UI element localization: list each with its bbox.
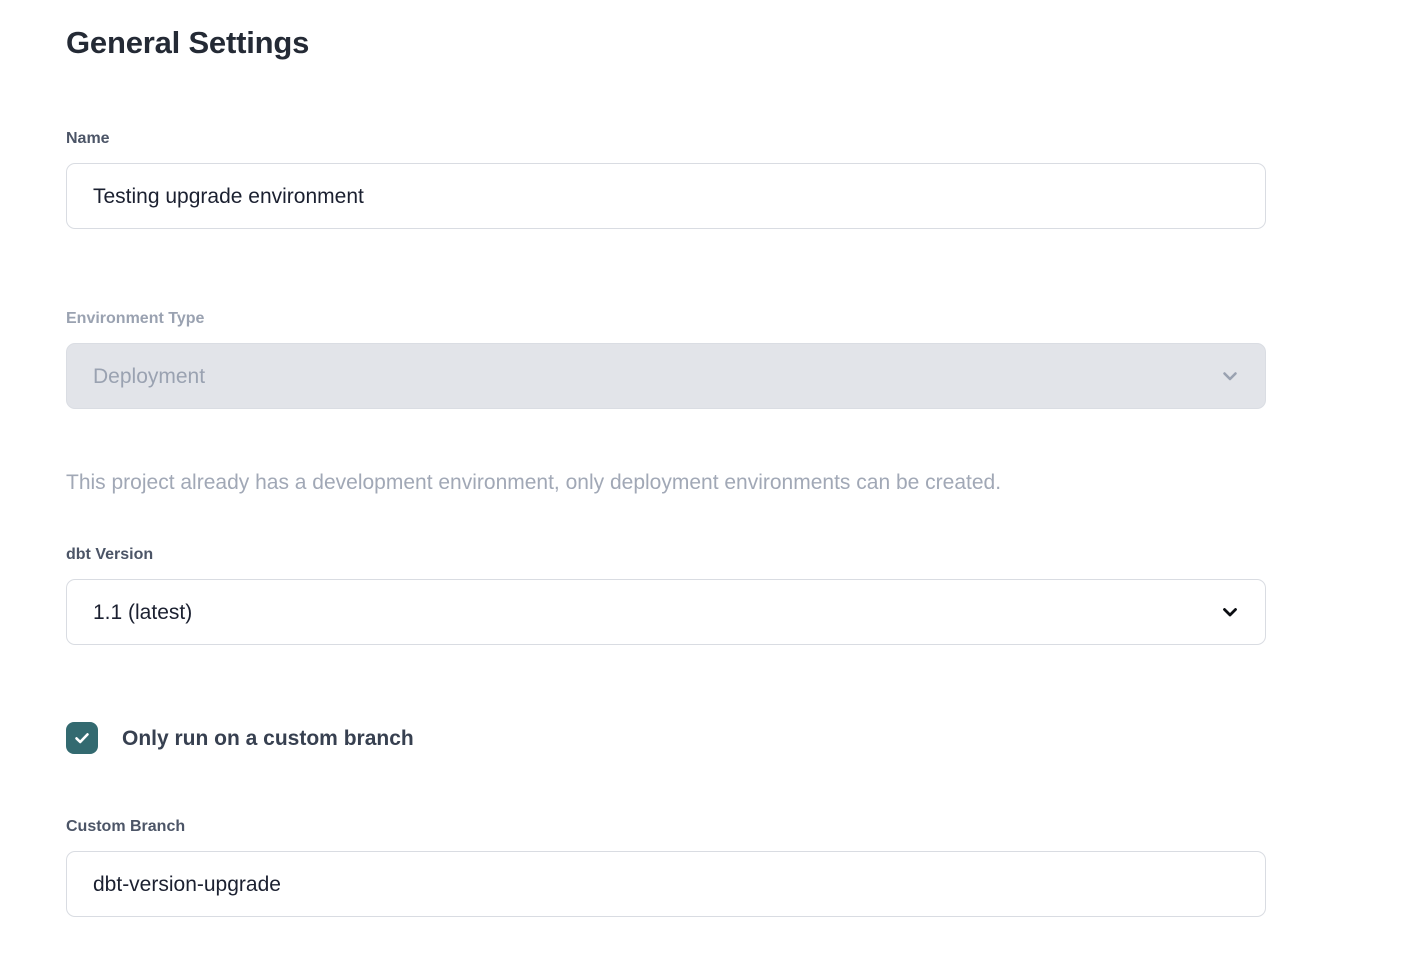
general-settings-page: General Settings Name Testing upgrade en… [0,0,1406,958]
environment-type-label: Environment Type [66,311,1266,327]
dbt-version-value: 1.1 (latest) [93,602,192,623]
field-group-dbt-version: dbt Version 1.1 (latest) [66,547,1266,645]
field-group-name: Name Testing upgrade environment [66,131,1266,229]
field-group-environment-type: Environment Type Deployment [66,311,1266,409]
chevron-down-icon [1219,601,1241,623]
dbt-version-label: dbt Version [66,547,1266,563]
only-run-on-custom-branch-checkbox[interactable] [66,722,98,754]
name-input[interactable]: Testing upgrade environment [66,163,1266,229]
only-run-on-custom-branch-label: Only run on a custom branch [122,728,414,749]
dbt-version-select[interactable]: 1.1 (latest) [66,579,1266,645]
check-icon [72,728,92,748]
name-label: Name [66,131,1266,147]
environment-type-helper-text: This project already has a development e… [66,470,1001,496]
custom-branch-input[interactable]: dbt-version-upgrade [66,851,1266,917]
only-run-on-custom-branch-row[interactable]: Only run on a custom branch [66,722,414,754]
field-group-custom-branch: Custom Branch dbt-version-upgrade [66,819,1266,917]
chevron-down-icon [1219,365,1241,387]
custom-branch-label: Custom Branch [66,819,1266,835]
environment-type-select[interactable]: Deployment [66,343,1266,409]
environment-type-value: Deployment [93,366,205,387]
page-title: General Settings [66,0,1340,61]
